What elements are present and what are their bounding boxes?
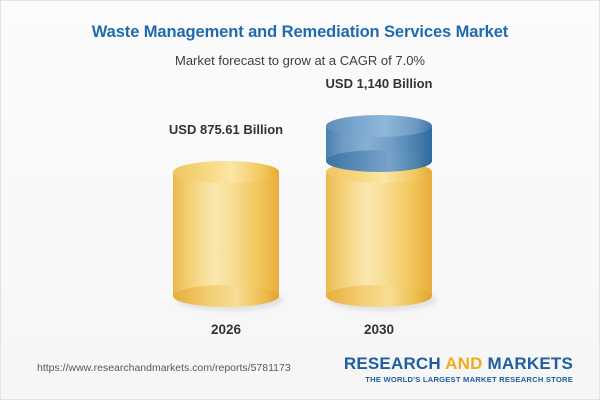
research-and-markets-logo[interactable]: RESEARCH AND MARKETS THE WORLD'S LARGEST… bbox=[344, 355, 573, 384]
segment-body bbox=[173, 172, 279, 296]
bar-value-label-2030: USD 1,140 Billion bbox=[326, 76, 433, 91]
logo-word-and: AND bbox=[445, 354, 482, 373]
segment-top-ellipse bbox=[173, 161, 279, 183]
bar-segment-yellow-2026 bbox=[173, 161, 279, 307]
logo-wordmark: RESEARCH AND MARKETS bbox=[344, 355, 573, 373]
market-forecast-chart-card: Waste Management and Remediation Service… bbox=[0, 0, 600, 400]
segment-bottom-ellipse bbox=[326, 285, 432, 307]
bar-value-label-2026: USD 875.61 Billion bbox=[169, 122, 283, 137]
logo-word-markets: MARKETS bbox=[483, 354, 573, 373]
segment-body bbox=[326, 172, 432, 296]
bar-segment-blue-2030 bbox=[326, 115, 432, 172]
segment-top-ellipse bbox=[326, 115, 432, 137]
chart-title: Waste Management and Remediation Service… bbox=[1, 23, 599, 42]
footer: https://www.researchandmarkets.com/repor… bbox=[1, 345, 599, 399]
category-label-2030: 2030 bbox=[364, 322, 394, 337]
cylinder-bar-2026 bbox=[173, 161, 279, 307]
category-label-2026: 2026 bbox=[211, 322, 241, 337]
bar-segment-yellow-2030 bbox=[326, 161, 432, 307]
logo-word-research: RESEARCH bbox=[344, 354, 445, 373]
chart-subtitle: Market forecast to grow at a CAGR of 7.0… bbox=[1, 53, 599, 68]
cylinder-bar-2030 bbox=[326, 115, 432, 307]
logo-tagline: THE WORLD'S LARGEST MARKET RESEARCH STOR… bbox=[344, 375, 573, 384]
segment-bottom-ellipse bbox=[326, 150, 432, 172]
report-url-link[interactable]: https://www.researchandmarkets.com/repor… bbox=[37, 362, 291, 374]
chart-plot-area: USD 875.61 Billion 2026 USD 1,140 Billio… bbox=[1, 81, 600, 343]
segment-bottom-ellipse bbox=[173, 285, 279, 307]
